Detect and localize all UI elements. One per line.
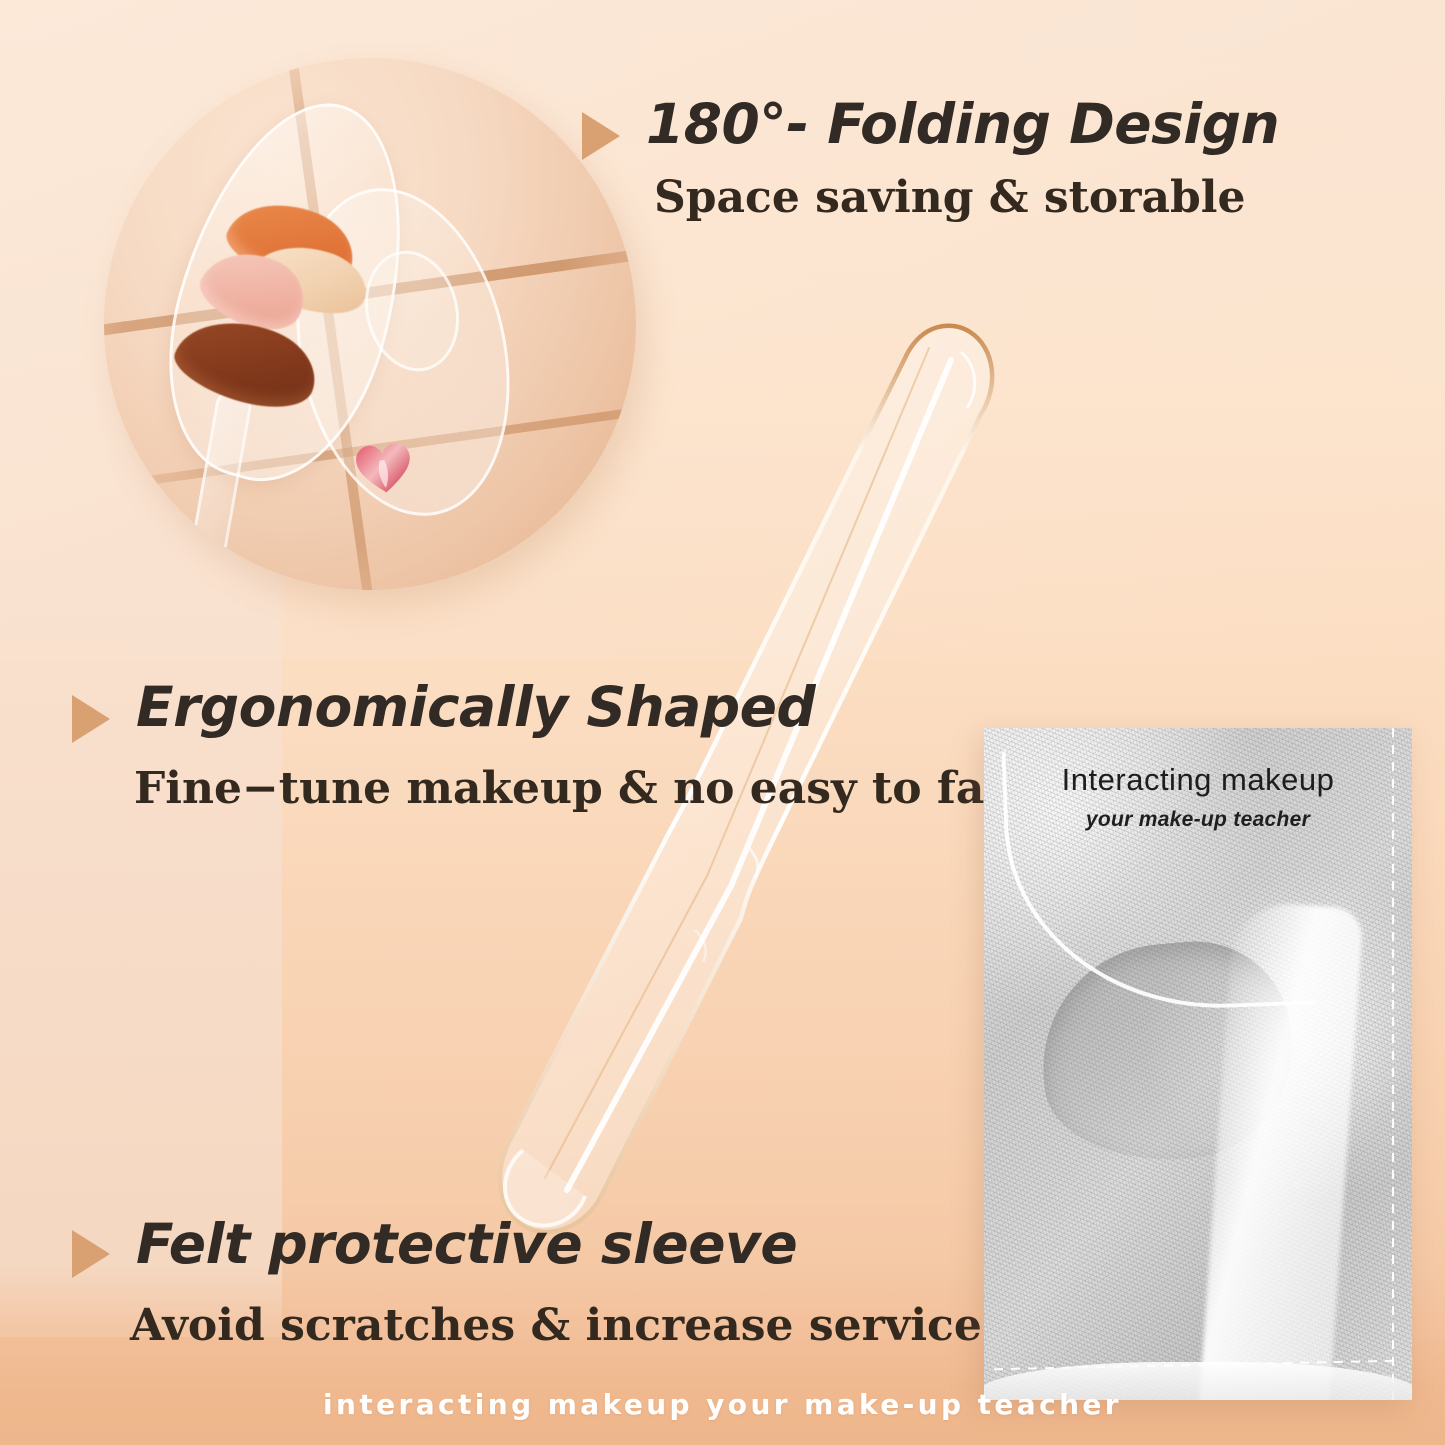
feature-subtitle: Avoid scratches & increase service life — [130, 1300, 1078, 1351]
triangle-bullet-icon — [582, 112, 620, 160]
triangle-bullet-icon — [72, 1230, 110, 1278]
feature-subtitle: Space saving & storable — [654, 172, 1245, 223]
feature-title: Felt protective sleeve — [136, 1212, 797, 1276]
pouch-brand-name: Interacting makeup — [984, 762, 1412, 798]
footer-brand-text: interacting makeup your make-up teacher — [0, 1388, 1445, 1421]
triangle-bullet-icon — [72, 695, 110, 743]
pouch-tagline: your make-up teacher — [984, 808, 1412, 832]
felt-protective-pouch: Interacting makeup your make-up teacher — [984, 728, 1412, 1400]
feature-subtitle: Fine−tune makeup & no easy to fatigue — [134, 763, 1112, 814]
pouch-brand-label: Interacting makeup your make-up teacher — [984, 762, 1412, 832]
product-feature-poster: 180°- Folding Design Space saving & stor… — [0, 0, 1445, 1445]
feature-title: 180°- Folding Design — [646, 92, 1279, 156]
feature-title: Ergonomically Shaped — [136, 675, 815, 739]
circular-inset-photo — [104, 58, 636, 590]
heart-icon — [353, 440, 414, 498]
